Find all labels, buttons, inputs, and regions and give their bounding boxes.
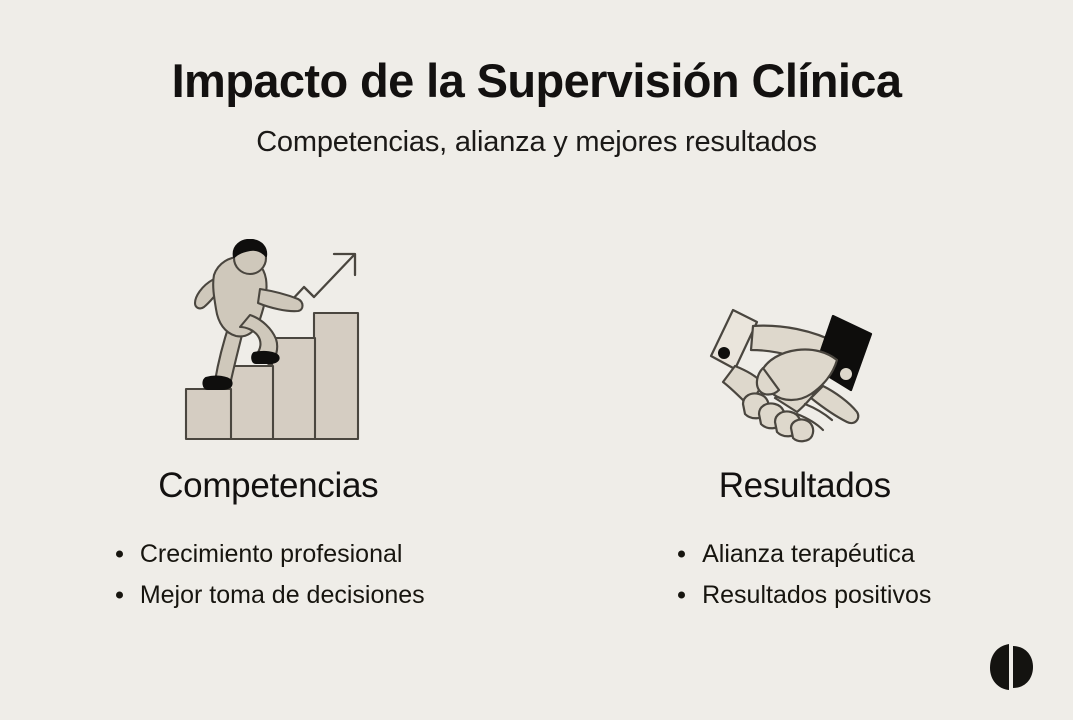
list-item-label: Mejor toma de decisiones [140,581,425,609]
column-heading-resultados: Resultados [719,466,891,506]
bullet-dot-icon [678,551,685,558]
person-climbing-bars-icon [168,232,368,444]
bullet-dot-icon [678,591,685,598]
column-heading-competencias: Competencias [158,466,378,506]
column-competencias: Competencias Crecimiento profesional Mej… [0,232,537,652]
list-item: Resultados positivos [678,575,931,616]
page-title: Impacto de la Supervisión Clínica [0,56,1073,107]
page-subtitle: Competencias, alianza y mejores resultad… [0,125,1073,160]
column-resultados: Resultados Alianza terapéutica Resultado… [537,232,1073,652]
list-item: Crecimiento profesional [116,534,425,575]
list-item-label: Crecimiento profesional [140,540,403,568]
list-item-label: Alianza terapéutica [702,540,915,568]
columns-container: Competencias Crecimiento profesional Mej… [0,232,1073,652]
header: Impacto de la Supervisión Clínica Compet… [0,56,1073,160]
handshake-icon [705,232,905,444]
list-item: Alianza terapéutica [678,534,931,575]
infographic-canvas: Impacto de la Supervisión Clínica Compet… [0,0,1073,720]
bullet-dot-icon [116,591,123,598]
bullet-dot-icon [116,551,123,558]
bullet-list-competencias: Crecimiento profesional Mejor toma de de… [116,534,425,615]
list-item-label: Resultados positivos [702,581,931,609]
bullet-list-resultados: Alianza terapéutica Resultados positivos [678,534,931,615]
list-item: Mejor toma de decisiones [116,575,425,616]
leaf-pair-logo [987,642,1035,692]
